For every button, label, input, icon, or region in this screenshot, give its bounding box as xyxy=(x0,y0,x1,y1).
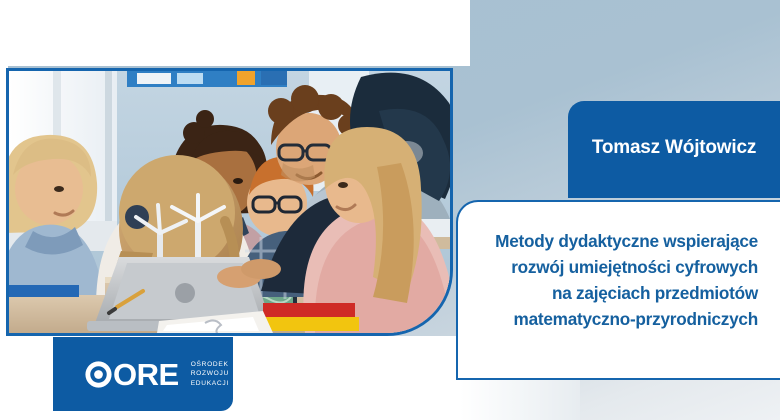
author-box: Tomasz Wójtowicz xyxy=(568,101,780,198)
ore-logo-bar: ORE Ośrodek Rozwoju Edukacji xyxy=(53,337,233,411)
ore-subtitle-line-1: Ośrodek xyxy=(191,360,229,370)
slide-root: ORE Ośrodek Rozwoju Edukacji Tomasz Wójt… xyxy=(0,0,780,420)
classroom-photo-illustration xyxy=(9,71,450,333)
author-name: Tomasz Wójtowicz xyxy=(592,137,756,159)
ore-circle-icon xyxy=(83,359,114,390)
title-line-2: rozwój umiejętności cyfrowych xyxy=(476,254,758,280)
ore-wordmark: ORE xyxy=(113,359,179,390)
background-top-white-strip xyxy=(0,0,470,66)
ore-subtitle-line-3: Edukacji xyxy=(191,379,229,389)
classroom-photo xyxy=(6,68,453,336)
title-line-4: matematyczno-przyrodniczych xyxy=(476,306,758,332)
title-box: Metody dydaktyczne wspierające rozwój um… xyxy=(456,200,780,380)
ore-subtitle-line-2: Rozwoju xyxy=(191,369,229,379)
ore-subtitle: Ośrodek Rozwoju Edukacji xyxy=(191,360,229,389)
title-line-1: Metody dydaktyczne wspierające xyxy=(476,228,758,254)
title-line-3: na zajęciach przedmiotów xyxy=(476,280,758,306)
